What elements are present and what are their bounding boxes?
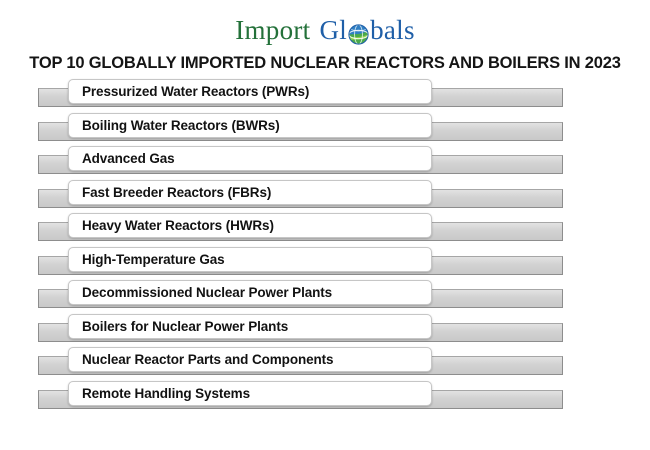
bar-row: Boilers for Nuclear Power Plants — [0, 314, 650, 348]
bar-label-text: Nuclear Reactor Parts and Components — [82, 352, 333, 367]
bar-chart-plot-area: Pressurized Water Reactors (PWRs)Boiling… — [0, 79, 650, 419]
bar-row: Pressurized Water Reactors (PWRs) — [0, 79, 650, 113]
bar-row: Boiling Water Reactors (BWRs) — [0, 113, 650, 147]
bar-label-plate[interactable]: Boiling Water Reactors (BWRs) — [68, 113, 432, 138]
bar-row: High-Temperature Gas — [0, 247, 650, 281]
logo-lockup: Import Gl bals — [235, 17, 415, 44]
bar-row: Remote Handling Systems — [0, 381, 650, 415]
bar-label-text: Remote Handling Systems — [82, 386, 250, 401]
bar-label-plate[interactable]: Pressurized Water Reactors (PWRs) — [68, 79, 432, 104]
bar-label-plate[interactable]: Nuclear Reactor Parts and Components — [68, 347, 432, 372]
bar-label-plate[interactable]: Heavy Water Reactors (HWRs) — [68, 213, 432, 238]
bar-label-plate[interactable]: Advanced Gas — [68, 146, 432, 171]
brand-logo: Import Gl bals — [0, 0, 650, 52]
bar-label-plate[interactable]: Fast Breeder Reactors (FBRs) — [68, 180, 432, 205]
bar-label-plate[interactable]: Decommissioned Nuclear Power Plants — [68, 280, 432, 305]
bar-row: Advanced Gas — [0, 146, 650, 180]
bar-label-text: Boilers for Nuclear Power Plants — [82, 319, 288, 334]
logo-text-import: Import — [235, 17, 310, 44]
bar-label-text: High-Temperature Gas — [82, 252, 225, 267]
bar-label-text: Boiling Water Reactors (BWRs) — [82, 118, 280, 133]
bar-label-text: Pressurized Water Reactors (PWRs) — [82, 84, 309, 99]
bar-row: Decommissioned Nuclear Power Plants — [0, 280, 650, 314]
bar-label-text: Heavy Water Reactors (HWRs) — [82, 218, 274, 233]
bar-label-plate[interactable]: Boilers for Nuclear Power Plants — [68, 314, 432, 339]
bar-label-plate[interactable]: Remote Handling Systems — [68, 381, 432, 406]
chart-title: TOP 10 GLOBALLY IMPORTED NUCLEAR REACTOR… — [0, 52, 650, 73]
bar-label-text: Advanced Gas — [82, 151, 175, 166]
bar-label-text: Decommissioned Nuclear Power Plants — [82, 285, 332, 300]
globe-icon — [348, 23, 369, 44]
bar-row: Heavy Water Reactors (HWRs) — [0, 213, 650, 247]
logo-text-bals-suffix: bals — [370, 17, 415, 44]
bar-label-plate[interactable]: High-Temperature Gas — [68, 247, 432, 272]
logo-text-gl-prefix: Gl — [319, 17, 347, 44]
bar-row: Fast Breeder Reactors (FBRs) — [0, 180, 650, 214]
bar-row: Nuclear Reactor Parts and Components — [0, 347, 650, 381]
bar-label-text: Fast Breeder Reactors (FBRs) — [82, 185, 271, 200]
